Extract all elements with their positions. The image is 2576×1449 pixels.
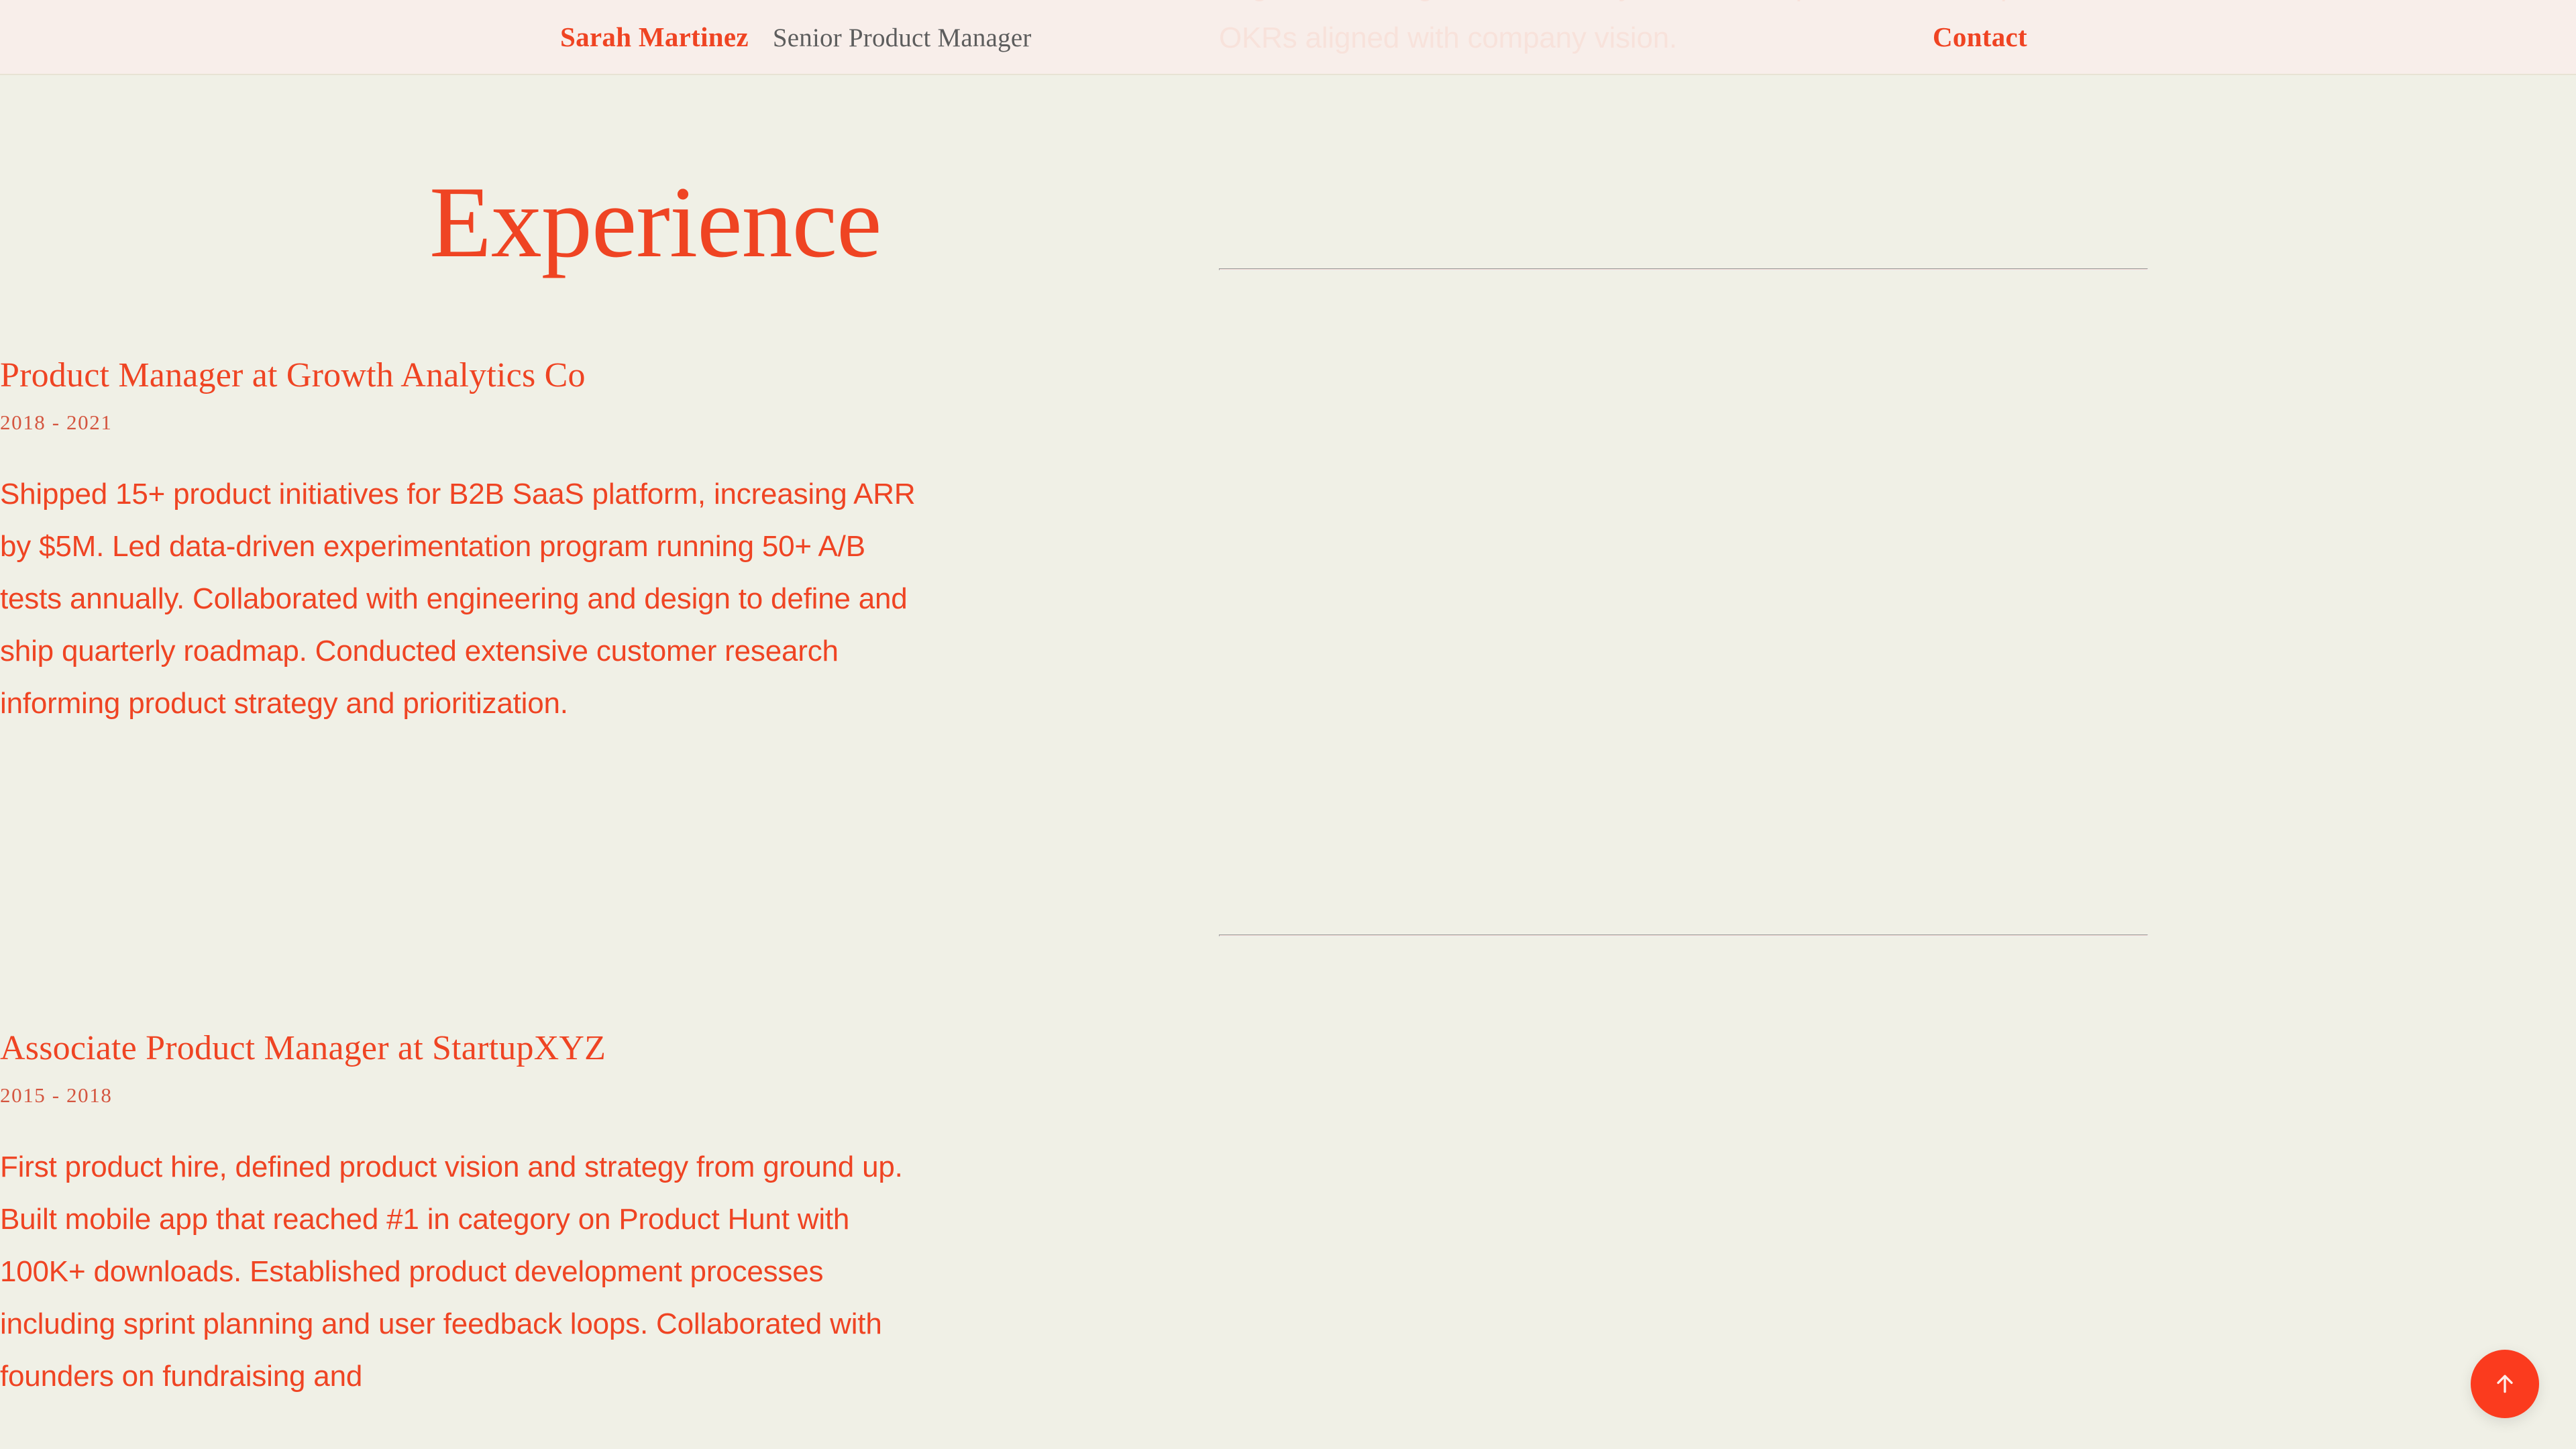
brand-name[interactable]: Sarah Martinez <box>560 21 749 53</box>
job-title: Associate Product Manager at StartupXYZ <box>0 1028 929 1069</box>
experience-entry-growth-analytics: Product Manager at Growth Analytics Co 2… <box>0 356 929 730</box>
nav-link-contact[interactable]: Contact <box>1933 21 2027 53</box>
brand[interactable]: Sarah Martinez Senior Product Manager <box>560 21 1032 53</box>
arrow-up-icon <box>2491 1371 2518 1397</box>
job-dates: 2018 - 2021 <box>0 411 929 435</box>
site-header: Sarah Martinez Senior Product Manager Co… <box>0 0 2576 75</box>
section-divider <box>1219 268 2148 270</box>
page-root: engineers, designers, and analysts. Defi… <box>0 0 2576 1449</box>
job-title: Product Manager at Growth Analytics Co <box>0 356 929 396</box>
job-dates: 2015 - 2018 <box>0 1083 929 1108</box>
experience-entry-startupxyz: Associate Product Manager at StartupXYZ … <box>0 1028 929 1403</box>
job-description: Shipped 15+ product initiatives for B2B … <box>0 468 929 730</box>
section-divider <box>1219 934 2148 936</box>
scroll-to-top-button[interactable] <box>2471 1350 2539 1418</box>
page-title: Experience <box>429 169 881 276</box>
brand-role: Senior Product Manager <box>773 23 1032 53</box>
job-description: First product hire, defined product visi… <box>0 1141 929 1403</box>
